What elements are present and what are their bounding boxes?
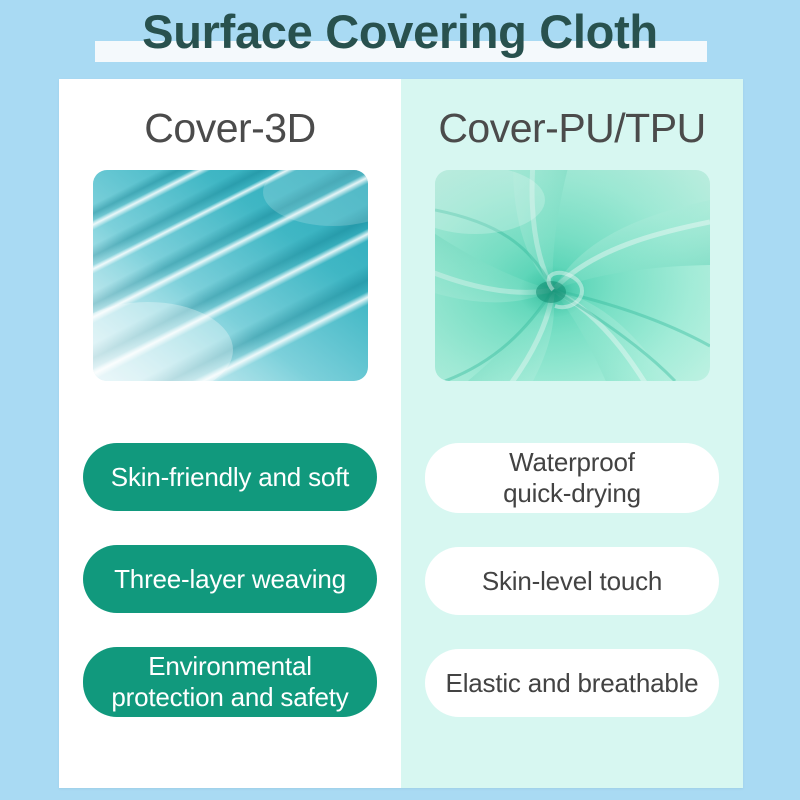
feature-line: Waterproof bbox=[503, 447, 641, 478]
page-title-area: Surface Covering Cloth bbox=[0, 0, 800, 78]
mint-swirl-fabric-swatch bbox=[435, 170, 710, 381]
column-cover-3d: Cover-3D bbox=[59, 79, 401, 788]
feature-pill[interactable]: Elastic and breathable bbox=[425, 649, 719, 717]
feature-pill[interactable]: Three-layer weaving bbox=[83, 545, 377, 613]
feature-line: Environmental bbox=[111, 651, 348, 682]
feature-line: Elastic and breathable bbox=[446, 668, 699, 699]
comparison-card: Cover-3D bbox=[59, 79, 743, 788]
feature-pill[interactable]: Skin-friendly and soft bbox=[83, 443, 377, 511]
feature-line: protection and safety bbox=[111, 682, 348, 713]
cyan-satin-fabric-swatch bbox=[93, 170, 368, 381]
feature-pill[interactable]: Waterproof quick-drying bbox=[425, 443, 719, 513]
page-title: Surface Covering Cloth bbox=[0, 1, 800, 63]
column-header-cover-pu-tpu: Cover-PU/TPU bbox=[438, 101, 705, 155]
feature-line: Skin-friendly and soft bbox=[111, 462, 349, 493]
feature-pill[interactable]: Skin-level touch bbox=[425, 547, 719, 615]
column-header-cover-3d: Cover-3D bbox=[144, 101, 315, 155]
feature-list-cover-pu-tpu: Waterproof quick-drying Skin-level touch… bbox=[401, 443, 743, 717]
feature-list-cover-3d: Skin-friendly and soft Three-layer weavi… bbox=[59, 443, 401, 717]
feature-line: quick-drying bbox=[503, 478, 641, 509]
column-cover-pu-tpu: Cover-PU/TPU bbox=[401, 79, 743, 788]
feature-line: Skin-level touch bbox=[482, 566, 662, 597]
feature-line: Three-layer weaving bbox=[114, 564, 346, 595]
feature-pill[interactable]: Environmental protection and safety bbox=[83, 647, 377, 717]
